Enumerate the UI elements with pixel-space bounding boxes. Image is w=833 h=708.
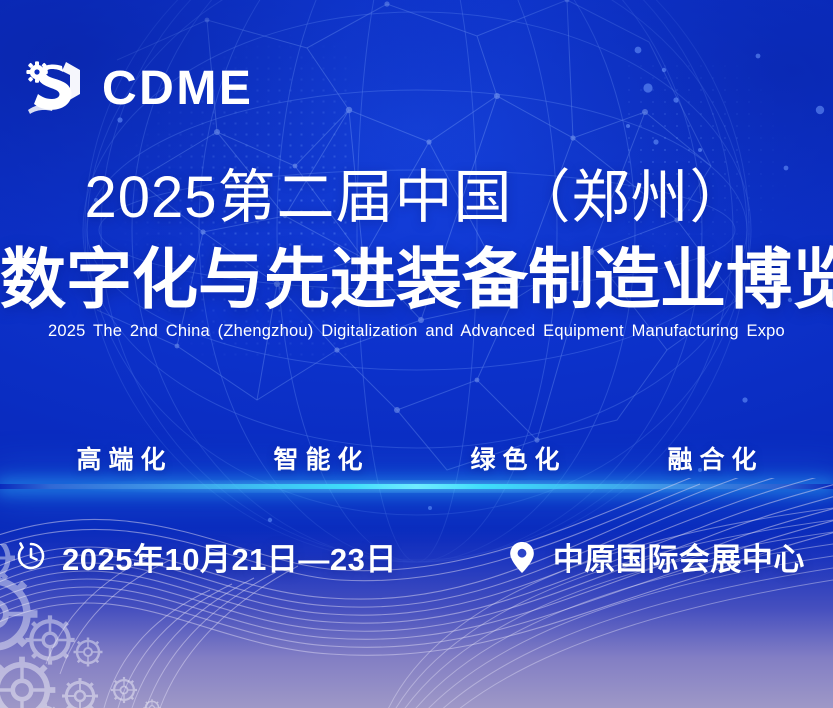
title-line-1-cn: 2025第二届中国（郑州） xyxy=(0,166,833,231)
keyword-item: 绿色化 xyxy=(464,440,567,476)
location-pin-icon xyxy=(505,538,539,576)
keyword-list: 高端化 智能化 绿色化 融合化 xyxy=(0,440,833,476)
event-date: 2025年10月21日—23日 xyxy=(14,534,397,579)
title-line-2-cn: 数字化与先进装备制造业博览会 xyxy=(0,243,833,316)
keyword-item: 智能化 xyxy=(266,440,369,476)
clock-icon xyxy=(14,538,48,576)
keyword-item: 融合化 xyxy=(661,440,764,476)
event-info-row: 2025年10月21日—23日 中原国际会展中心 xyxy=(0,534,833,579)
cdme-s-gear-logo-icon xyxy=(22,52,88,126)
event-venue: 中原国际会展中心 xyxy=(505,534,805,579)
expo-poster: CDME 2025第二届中国（郑州） 数字化与先进装备制造业博览会 2025 T… xyxy=(0,0,833,708)
title-block: 2025第二届中国（郑州） 数字化与先进装备制造业博览会 2025 The 2n… xyxy=(0,166,833,341)
brand-logo[interactable]: CDME xyxy=(22,52,253,126)
logo-wordmark: CDME xyxy=(102,65,253,113)
title-line-en: 2025 The 2nd China (Zhengzhou) Digitaliz… xyxy=(0,322,833,342)
event-date-text: 2025年10月21日—23日 xyxy=(62,534,397,579)
keyword-item: 高端化 xyxy=(69,440,172,476)
event-venue-text: 中原国际会展中心 xyxy=(553,534,805,579)
